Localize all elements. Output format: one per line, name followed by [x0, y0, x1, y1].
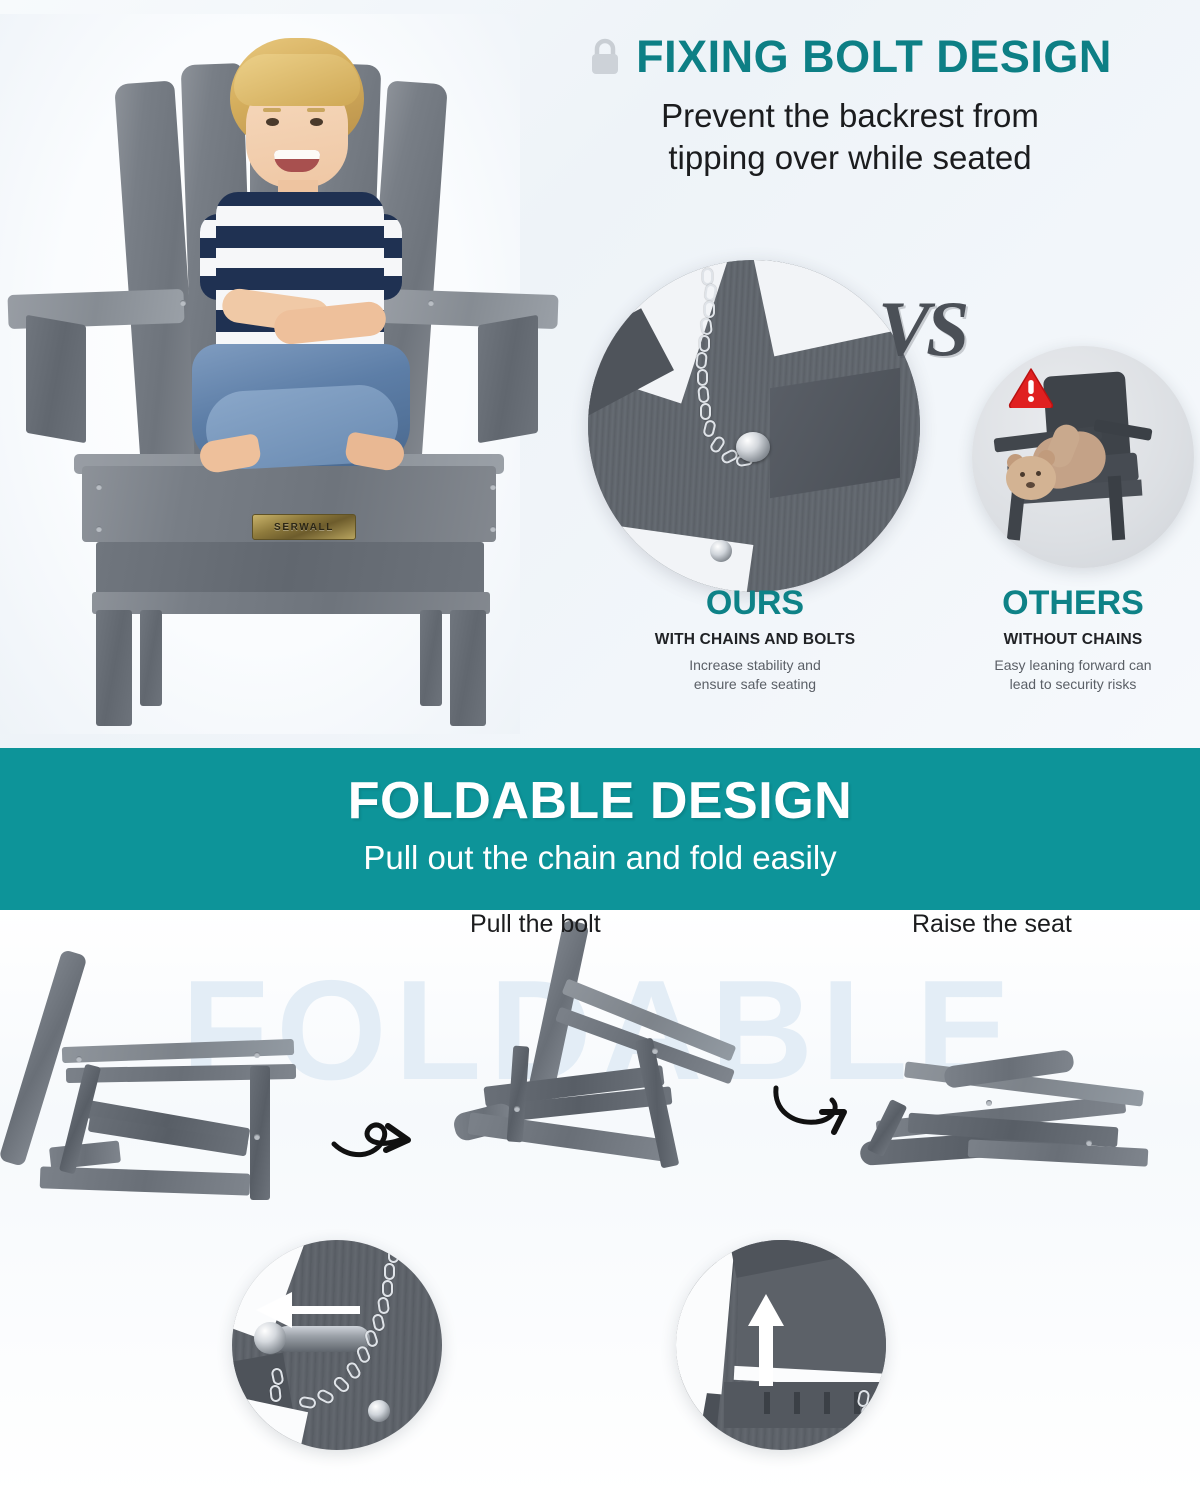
chair-leg-front-right [450, 610, 486, 726]
screw-icon [986, 1100, 992, 1106]
foldable-design-banner: FOLDABLE DESIGN Pull out the chain and f… [0, 748, 1200, 910]
chair-bolt [368, 1400, 390, 1422]
brand-nameplate: SERWALL [252, 514, 356, 540]
folding-stage-2-midfold [440, 920, 750, 1240]
chain-link [700, 403, 711, 420]
comparison-description-line-2: ensure safe seating [570, 675, 940, 694]
section-heading-block: FIXING BOLT DESIGN Prevent the backrest … [510, 34, 1190, 179]
curved-arrow-icon [330, 1100, 440, 1170]
comparison-heading: OTHERS [948, 586, 1198, 622]
chair-runner [467, 1112, 668, 1162]
screw-icon [652, 1048, 658, 1054]
comparison-heading: OURS [570, 586, 940, 622]
teddy-bear [1006, 424, 1106, 498]
chair-bolt [710, 540, 732, 562]
comparison-subheading: WITH CHAINS AND BOLTS [570, 631, 940, 649]
brand-name: SERWALL [274, 522, 334, 533]
chair-arm-support-left [26, 315, 86, 444]
comparison-description-line-1: Easy leaning forward can [948, 656, 1198, 675]
chair-leg-back-left [140, 610, 162, 706]
comparison-description-line-2: lead to security risks [948, 675, 1198, 694]
step-label-raise-seat: Raise the seat [912, 910, 1072, 939]
chair-leg-front-left [96, 610, 132, 726]
hero-photo-child-on-chair: SERWALL [0, 14, 520, 734]
child-fringe [234, 54, 360, 106]
folding-stage-3-folded [848, 1048, 1178, 1238]
folded-slat [968, 1139, 1149, 1166]
chair-side-block [770, 368, 900, 499]
detail-circle-raise-seat [676, 1240, 886, 1450]
screw-icon [76, 1056, 82, 1062]
chain-link [702, 268, 713, 285]
child-figure [170, 32, 430, 482]
arrow-up-icon [746, 1292, 786, 1388]
fixing-bolt [736, 432, 770, 462]
chain-link [384, 1263, 395, 1280]
screw-icon [96, 484, 102, 490]
chair-arm-support-right [478, 315, 538, 444]
others-detail-circle [972, 346, 1194, 568]
comparison-column-ours: OURS WITH CHAINS AND BOLTS Increase stab… [570, 586, 940, 693]
seat-apron [96, 542, 484, 596]
chair-arm [62, 1039, 294, 1063]
seat-gap [794, 1392, 800, 1414]
screw-icon [490, 484, 496, 490]
lock-icon [588, 37, 622, 77]
teddy-bear-nose [1026, 482, 1035, 488]
comparison-labels: OURS WITH CHAINS AND BOLTS Increase stab… [560, 586, 1200, 736]
product-infographic: SERWALL [0, 0, 1200, 1500]
comparison-subheading: WITHOUT CHAINS [948, 631, 1198, 649]
subtitle-line-1: Prevent the backrest from [510, 95, 1190, 137]
chain-link [388, 1246, 399, 1263]
child-eye [310, 118, 323, 126]
comparison-description: Increase stability and ensure safe seati… [570, 656, 940, 694]
screw-icon [514, 1106, 520, 1112]
warning-triangle-icon [1008, 366, 1054, 408]
chain-link [697, 369, 708, 386]
screw-icon [1086, 1140, 1092, 1146]
detail-circle-pull-bolt [232, 1240, 442, 1450]
chain-link [269, 1384, 282, 1402]
screw-icon [254, 1134, 260, 1140]
page-title: FIXING BOLT DESIGN [636, 34, 1112, 79]
section-subtitle: Prevent the backrest from tipping over w… [510, 95, 1190, 179]
child-eyebrow [263, 108, 281, 112]
chain-link [697, 385, 710, 403]
step-label-pull-bolt: Pull the bolt [470, 910, 601, 939]
banner-subtitle: Pull out the chain and fold easily [0, 839, 1200, 877]
ours-detail-circle [588, 260, 920, 592]
child-eyebrow [307, 108, 325, 112]
chain-link [699, 335, 710, 352]
teddy-bear-head [1006, 456, 1056, 500]
comparison-description: Easy leaning forward can lead to securit… [948, 656, 1198, 694]
folding-sequence-section: FOLDABLE [0, 910, 1200, 1500]
chair-leg [250, 1066, 270, 1200]
arrow-left-icon [252, 1286, 362, 1330]
subtitle-line-2: tipping over while seated [510, 137, 1190, 179]
screw-icon [254, 1052, 260, 1058]
fixing-bolt-section: SERWALL [0, 0, 1200, 748]
chain-link [700, 317, 713, 335]
folding-stage-1-open [10, 938, 330, 1248]
chain-link [382, 1280, 393, 1297]
comparison-column-others: OTHERS WITHOUT CHAINS Easy leaning forwa… [948, 586, 1198, 693]
teddy-bear-eye [1036, 471, 1041, 476]
child-eye [266, 118, 279, 126]
seat-gap [764, 1392, 770, 1414]
child-teeth [274, 150, 320, 159]
banner-title: FOLDABLE DESIGN [0, 748, 1200, 829]
vs-divider: VS [878, 274, 998, 384]
screw-icon [96, 526, 102, 532]
teddy-bear-eye [1020, 472, 1025, 477]
screw-icon [490, 526, 496, 532]
seat-gap [824, 1392, 830, 1414]
chain-link [704, 301, 715, 318]
chair-leg-back-right [420, 610, 442, 706]
comparison-description-line-1: Increase stability and [570, 656, 940, 675]
